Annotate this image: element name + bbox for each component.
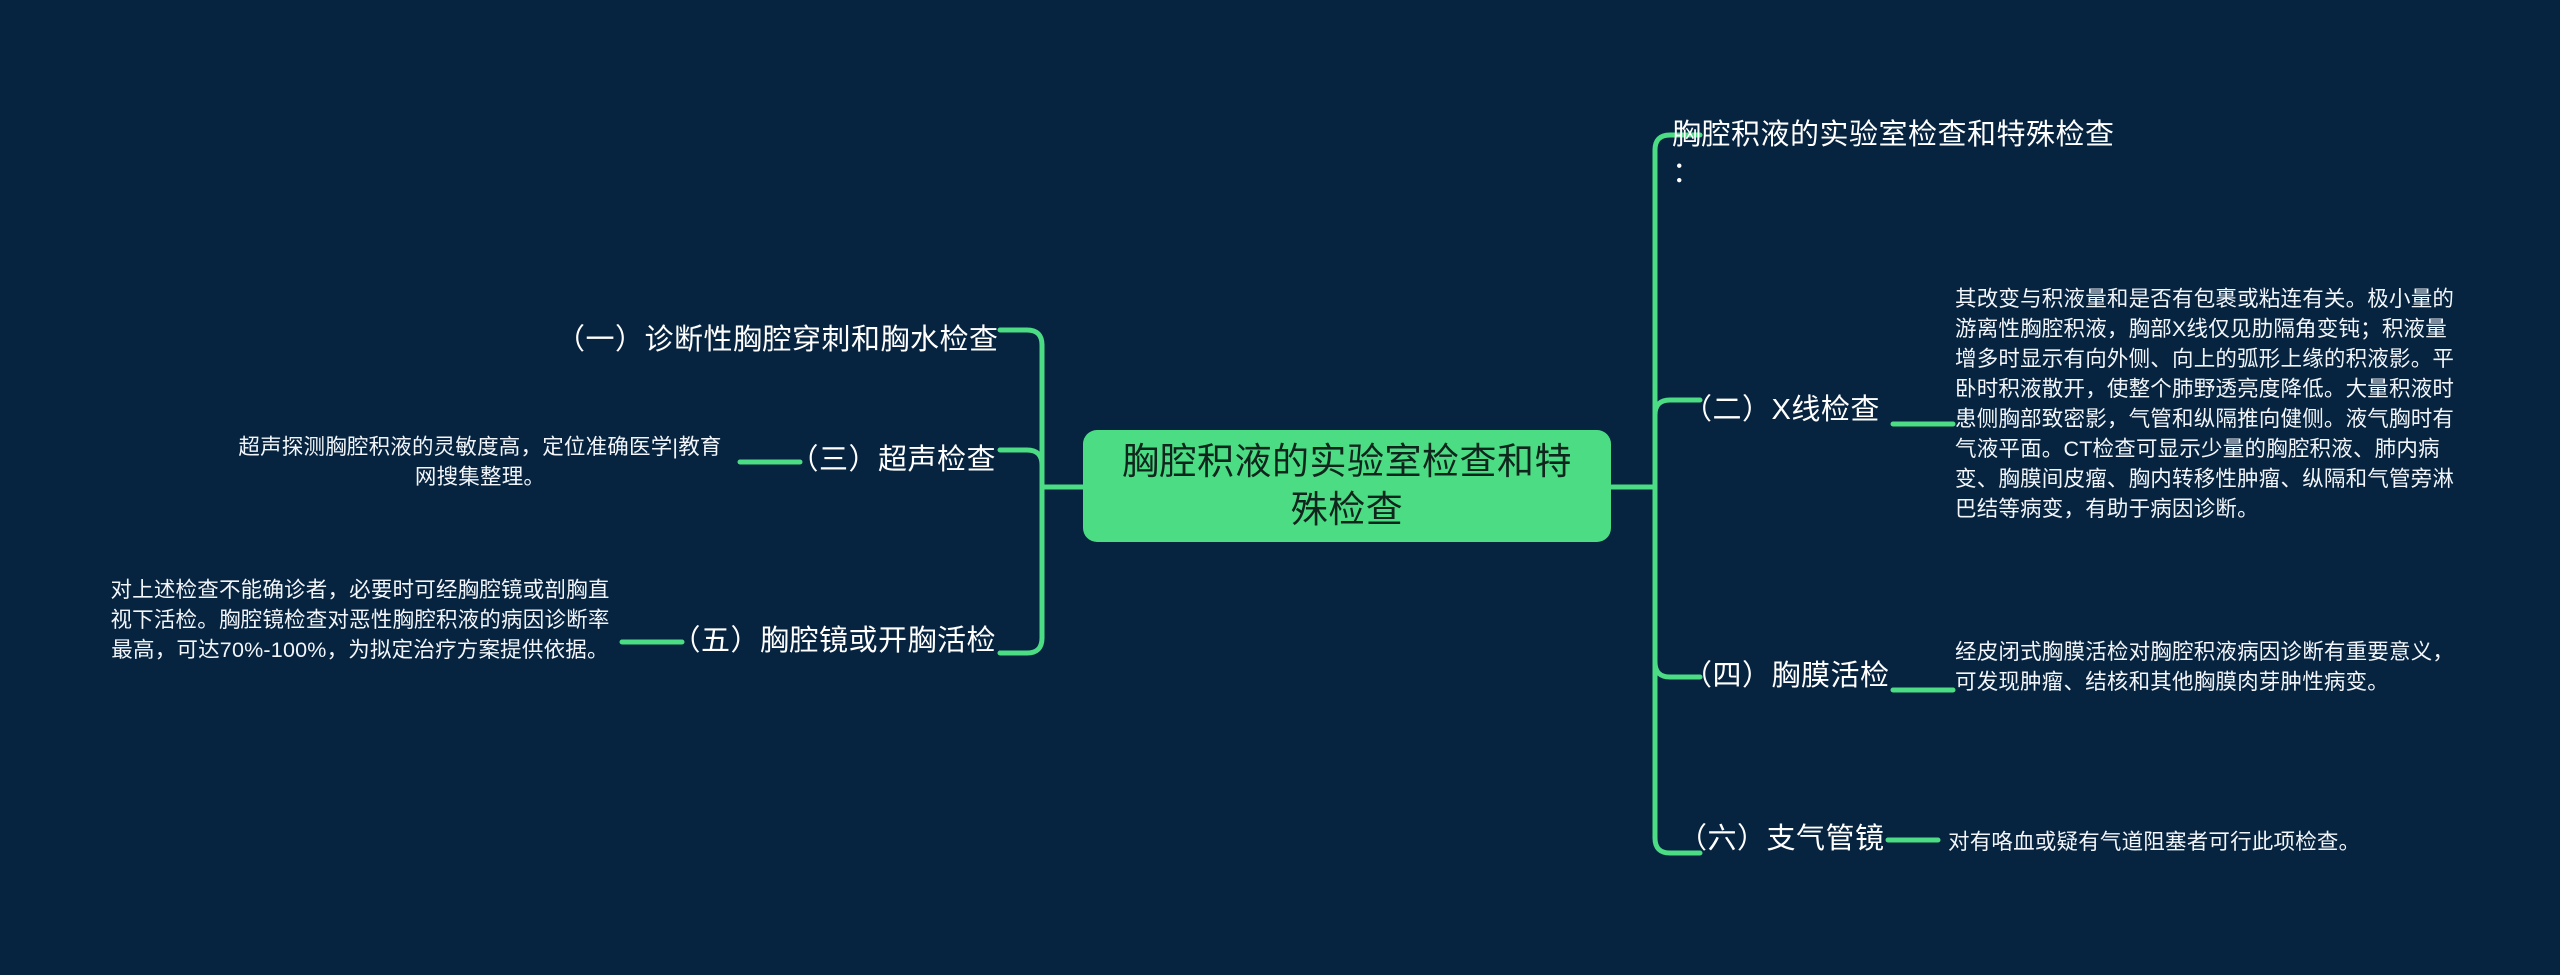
elbow-ultrasound xyxy=(1000,450,1042,465)
node-top-right-title[interactable]: 胸腔积液的实验室检查和特殊检查 ： xyxy=(1672,116,2312,192)
node-thoracoscopy[interactable]: （五）胸腔镜或开胸活检 xyxy=(656,622,996,660)
mindmap-canvas: 胸腔积液的实验室检查和特殊检查 胸腔积液的实验室检查和特殊检查 ： （二）X线检… xyxy=(0,0,2560,975)
node-bronchoscopy[interactable]: （六）支气管镜 xyxy=(1678,820,1885,858)
desc-ultrasound: 超声探测胸腔积液的灵敏度高，定位准确医学|教育网搜集整理。 xyxy=(230,432,730,492)
root-node[interactable]: 胸腔积液的实验室检查和特殊检查 xyxy=(1083,430,1611,542)
elbow-thoracentesis xyxy=(1000,330,1042,345)
node-bronchoscopy-label: （六）支气管镜 xyxy=(1678,823,1885,855)
node-thoracentesis-label: （一）诊断性胸腔穿刺和胸水检查 xyxy=(556,324,999,356)
node-top-right-title-colon: ： xyxy=(1672,154,2312,192)
elbow-thoracoscopy xyxy=(1000,638,1042,653)
root-node-label: 胸腔积液的实验室检查和特殊检查 xyxy=(1109,438,1585,534)
node-xray[interactable]: （二）X线检查 xyxy=(1683,391,1880,429)
node-ultrasound[interactable]: （三）超声检查 xyxy=(756,441,996,479)
node-thoracentesis[interactable]: （一）诊断性胸腔穿刺和胸水检查 xyxy=(556,321,996,359)
desc-pleural-biopsy: 经皮闭式胸膜活检对胸腔积液病因诊断有重要意义，可发现肿瘤、结核和其他胸膜肉芽肿性… xyxy=(1955,637,2455,697)
node-pleural-biopsy-label: （四）胸膜活检 xyxy=(1683,660,1890,692)
node-top-right-title-label: 胸腔积液的实验室检查和特殊检查 xyxy=(1672,119,2115,151)
desc-xray: 其改变与积液量和是否有包裹或粘连有关。极小量的游离性胸腔积液，胸部X线仅见肋隔角… xyxy=(1955,284,2455,524)
desc-bronchoscopy: 对有咯血或疑有气道阻塞者可行此项检查。 xyxy=(1948,827,2468,857)
node-xray-label: （二）X线检查 xyxy=(1683,394,1880,426)
node-thoracoscopy-label: （五）胸腔镜或开胸活检 xyxy=(671,625,996,657)
desc-thoracoscopy: 对上述检查不能确诊者，必要时可经胸腔镜或剖胸直视下活检。胸腔镜检查对恶性胸腔积液… xyxy=(100,575,620,665)
node-pleural-biopsy[interactable]: （四）胸膜活检 xyxy=(1683,657,1890,695)
node-ultrasound-label: （三）超声检查 xyxy=(789,444,996,476)
